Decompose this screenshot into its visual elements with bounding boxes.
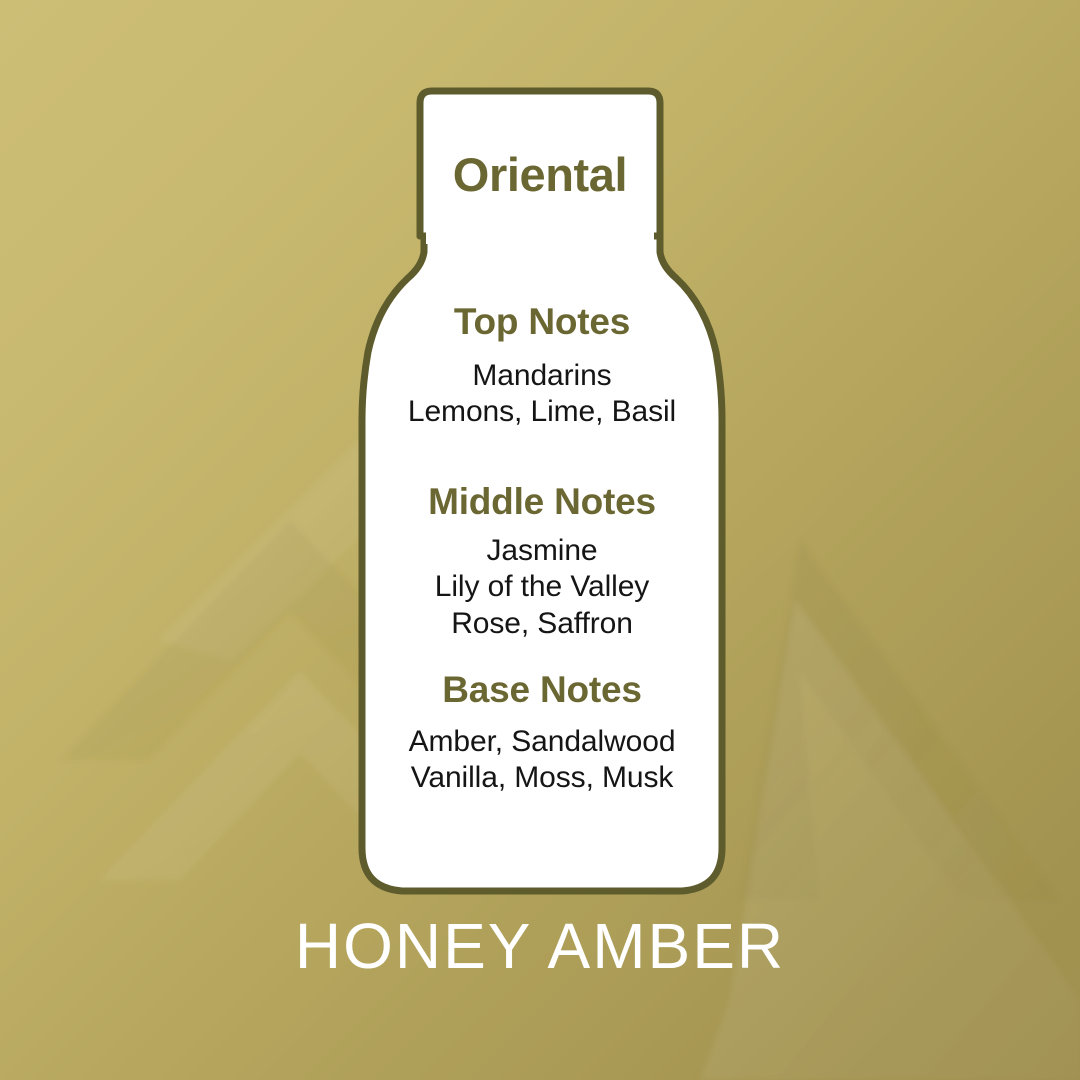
- product-name: HONEY AMBER: [0, 913, 1080, 980]
- cap-category-label: Oriental: [420, 150, 660, 199]
- notes-block-base: Base Notes Amber, Sandalwood Vanilla, Mo…: [340, 670, 744, 797]
- notes-heading-base: Base Notes: [340, 670, 744, 711]
- notes-line: Amber, Sandalwood: [340, 724, 744, 761]
- notes-line: Jasmine: [340, 533, 744, 570]
- fragrance-card: Oriental Top Notes Mandarins Lemons, Lim…: [0, 0, 1080, 1080]
- notes-line: Vanilla, Moss, Musk: [340, 760, 744, 797]
- notes-list-top: Mandarins Lemons, Lime, Basil: [340, 358, 744, 431]
- notes-line: Lily of the Valley: [340, 569, 744, 606]
- notes-block-top: Top Notes Mandarins Lemons, Lime, Basil: [340, 302, 744, 431]
- notes-line: Lemons, Lime, Basil: [340, 394, 744, 431]
- notes-heading-top: Top Notes: [340, 302, 744, 343]
- notes-list-base: Amber, Sandalwood Vanilla, Moss, Musk: [340, 724, 744, 797]
- notes-line: Rose, Saffron: [340, 606, 744, 643]
- notes-list-middle: Jasmine Lily of the Valley Rose, Saffron: [340, 533, 744, 643]
- notes-block-middle: Middle Notes Jasmine Lily of the Valley …: [340, 482, 744, 642]
- bottle-label-text: Oriental Top Notes Mandarins Lemons, Lim…: [0, 0, 1080, 1080]
- notes-line: Mandarins: [340, 358, 744, 395]
- notes-heading-middle: Middle Notes: [340, 482, 744, 523]
